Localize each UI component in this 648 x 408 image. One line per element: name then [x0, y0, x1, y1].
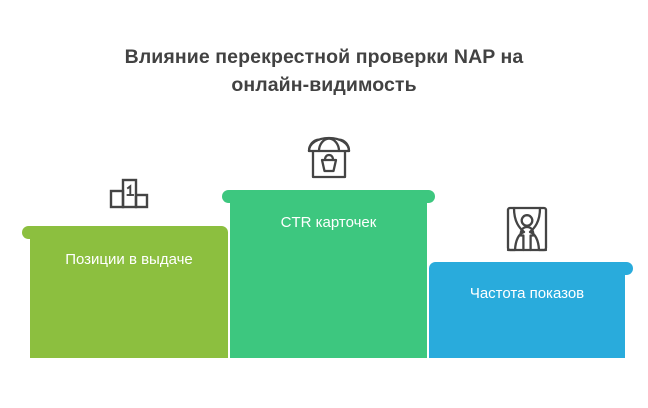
bar-cap-positions: [22, 226, 228, 239]
bar-group-ctr[interactable]: CTR карточек: [230, 196, 427, 358]
bar-body-ctr: [230, 196, 427, 358]
storefront-icon: [304, 132, 354, 184]
bar-chart-plot: Позиции в выдаче CTR карточек: [0, 0, 648, 408]
bar-cap-impressions: [429, 262, 633, 275]
bar-cap-ctr: [222, 190, 435, 203]
bar-group-positions[interactable]: Позиции в выдаче: [30, 232, 228, 358]
bar-group-impressions[interactable]: Частота показов: [429, 268, 625, 358]
podium-icon: [105, 170, 153, 218]
bar-body-impressions: [429, 268, 625, 358]
bar-body-positions: [30, 232, 228, 358]
stage-person-icon: [501, 202, 553, 256]
